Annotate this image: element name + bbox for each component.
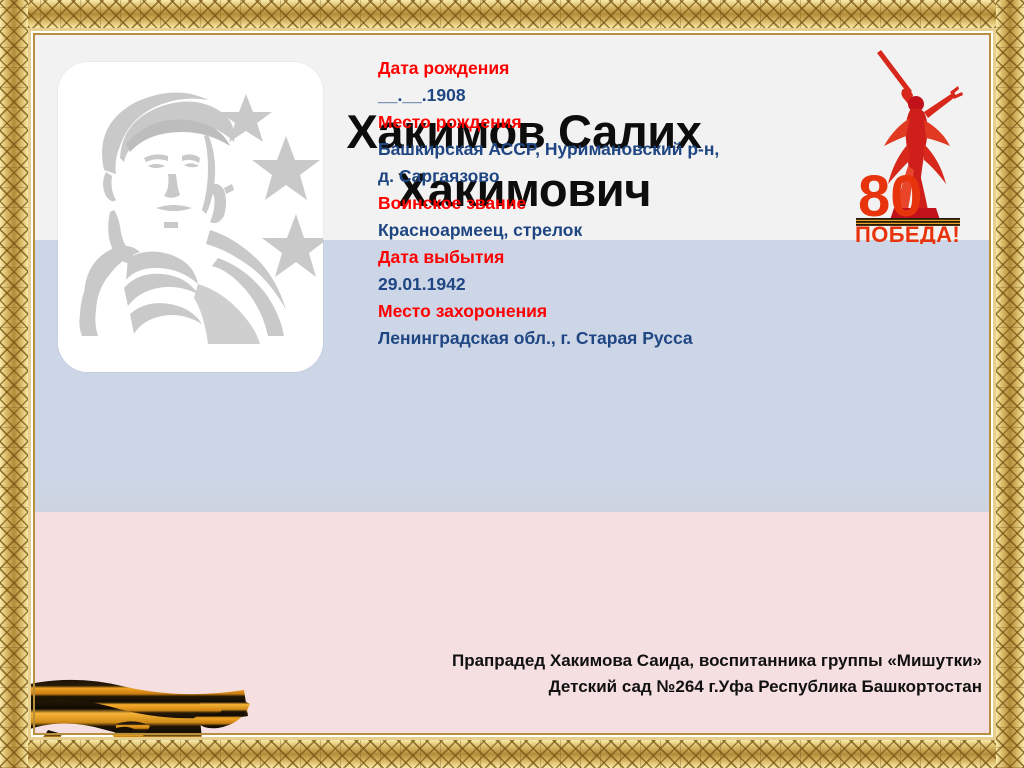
- svg-text:ПОБЕДА!: ПОБЕДА!: [855, 222, 960, 244]
- frame-top-band: [0, 0, 1024, 28]
- death-date-label: Дата выбытия: [378, 244, 938, 271]
- frame-right-band: [996, 0, 1024, 768]
- st-george-ribbon: [4, 646, 254, 766]
- burial-place-label: Место захоронения: [378, 298, 938, 325]
- victory-80-logo: 80 ПОБЕДА!: [850, 48, 966, 244]
- footer-line-2: Детский сад №264 г.Уфа Республика Башкор…: [224, 674, 982, 700]
- victory-word: ПОБЕДА!: [855, 222, 960, 244]
- memorial-slide: Хакимов Салих Хакимович: [0, 0, 1024, 768]
- soldier-portrait: [58, 62, 323, 372]
- slide-canvas: Хакимов Салих Хакимович: [34, 34, 990, 734]
- footer-line-1: Прапрадед Хакимова Саида, воспитанника г…: [224, 648, 982, 674]
- burial-place-value: Ленинградская обл., г. Старая Русса: [378, 325, 938, 352]
- death-date-value: 29.01.1942: [378, 271, 938, 298]
- footer-credit: Прапрадед Хакимова Саида, воспитанника г…: [224, 648, 982, 700]
